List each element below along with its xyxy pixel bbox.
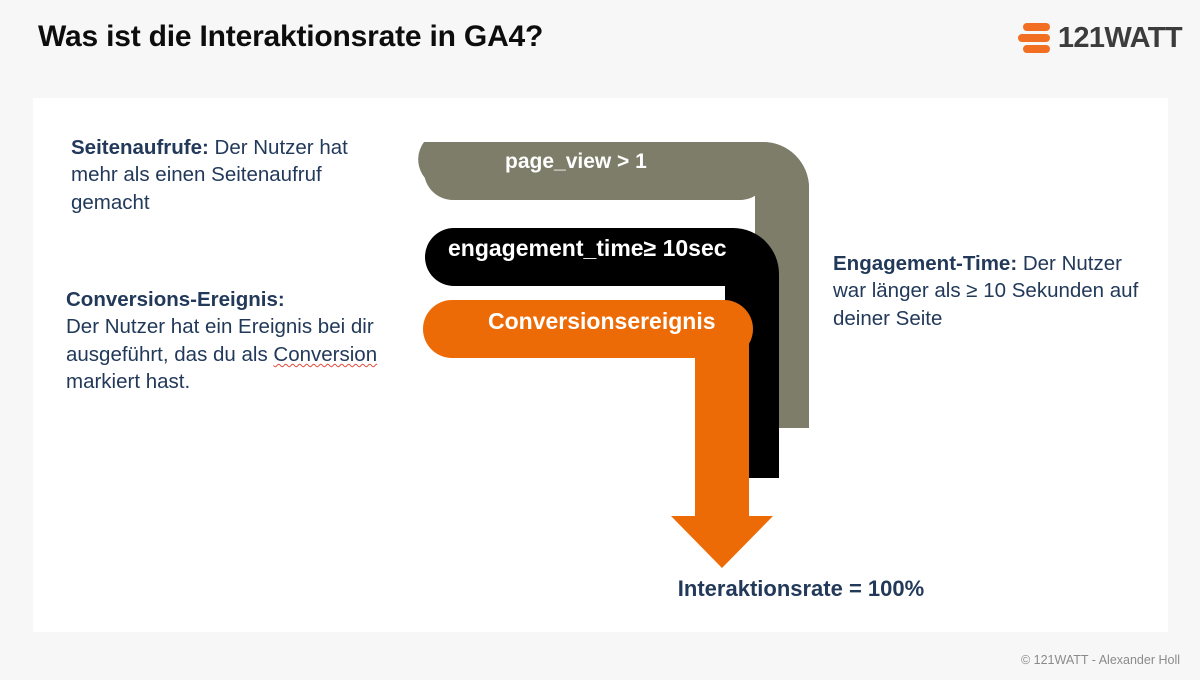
flow-label-page-view: page_view > 1 bbox=[505, 150, 647, 174]
flow-elbow-engagement-time bbox=[701, 228, 779, 478]
flow-label-engagement-time: engagement_time≥ 10sec bbox=[448, 235, 727, 262]
121watt-bars-icon bbox=[1018, 22, 1052, 55]
callout-conversions-ereignis-text-after: markiert hast. bbox=[66, 370, 190, 393]
callout-conversions-ereignis: Conversions-Ereignis: Der Nutzer hat ein… bbox=[66, 286, 396, 396]
page-title: Was ist die Interaktionsrate in GA4? bbox=[38, 20, 543, 54]
callout-conversions-ereignis-misspelled-word: Conversion bbox=[273, 343, 377, 366]
flow-result-label: Interaktionsrate = 100% bbox=[641, 576, 961, 602]
callout-seitenaufrufe-term: Seitenaufrufe: bbox=[71, 136, 209, 159]
brand-logo: 121WATT bbox=[1018, 22, 1182, 55]
flow-arrowhead-down-icon bbox=[671, 516, 773, 568]
content-card: Seitenaufrufe: Der Nutzer hat mehr als e… bbox=[33, 98, 1168, 632]
logo-wordmark: 121WATT bbox=[1058, 24, 1182, 53]
flow-shape-page-view bbox=[418, 142, 809, 398]
callout-seitenaufrufe: Seitenaufrufe: Der Nutzer hat mehr als e… bbox=[71, 134, 391, 216]
flow-label-conversion: Conversionsereignis bbox=[488, 308, 716, 335]
callout-conversions-ereignis-term: Conversions-Ereignis: bbox=[66, 288, 285, 311]
slide-footer-copyright: © 121WATT - Alexander Holl bbox=[1021, 653, 1180, 667]
callout-engagement-time-term: Engagement-Time: bbox=[833, 252, 1017, 275]
callout-engagement-time: Engagement-Time: Der Nutzer war länger a… bbox=[833, 250, 1143, 332]
slide-header: Was ist die Interaktionsrate in GA4? 121… bbox=[0, 0, 1200, 98]
flow-elbow-page-view bbox=[731, 142, 809, 428]
